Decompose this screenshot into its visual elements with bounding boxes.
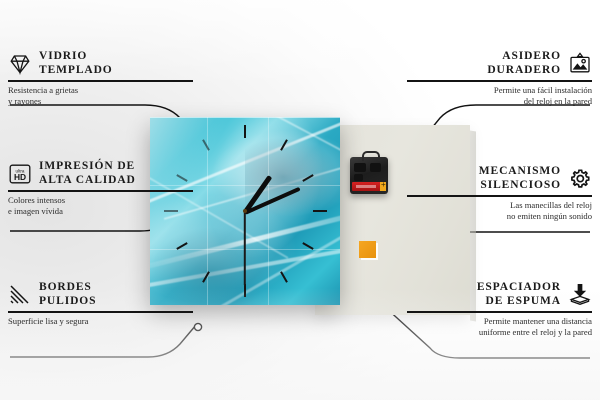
- hotspot-bordes: [194, 323, 201, 330]
- callout-subtitle-line2: del reloj en la pared: [524, 96, 592, 106]
- callout-title-line1: ASIDERO: [502, 50, 561, 62]
- clock-tick: [244, 125, 246, 138]
- svg-text:HD: HD: [14, 172, 26, 182]
- callout-title-line1: MECANISMO: [479, 165, 561, 177]
- arrow-down-layers-icon: [568, 283, 592, 307]
- callout-rule: [8, 190, 193, 192]
- callout-subtitle-line1: Superficie lisa y segura: [8, 316, 88, 326]
- callout-subtitle-line1: Resistencia a grietas: [8, 85, 78, 95]
- callout-title-line2: PULIDOS: [39, 295, 96, 307]
- clock-mechanism: [350, 157, 388, 194]
- battery: [352, 182, 386, 191]
- callout-subtitle-line2: no emiten ningún sonido: [507, 211, 592, 221]
- callout-subtitle-line2: uniforme entre el reloj y la pared: [479, 327, 592, 337]
- mechanism-hanger-loop: [362, 151, 380, 161]
- callout-rule: [407, 311, 592, 313]
- foam-spacer: [359, 241, 376, 258]
- callout-title-line1: VIDRIO: [39, 50, 87, 62]
- callout-title-line2: TEMPLADO: [39, 64, 113, 76]
- callout-subtitle-line1: Las manecillas del reloj: [510, 200, 592, 210]
- callout-asidero-duradero[interactable]: ASIDERO DURADERO Permite una fácil insta…: [407, 50, 592, 107]
- infographic-canvas: VIDRIO TEMPLADO Resistencia a grietas y …: [0, 0, 600, 400]
- callout-impresion-alta-calidad[interactable]: ultra HD IMPRESIÓN DE ALTA CALIDAD Color…: [8, 160, 193, 217]
- callout-subtitle-line1: Colores intensos: [8, 195, 65, 205]
- callout-vidrio-templado[interactable]: VIDRIO TEMPLADO Resistencia a grietas y …: [8, 50, 193, 107]
- callout-rule: [8, 311, 193, 313]
- callout-bordes-pulidos[interactable]: BORDES PULIDOS Superficie lisa y segura: [8, 281, 193, 327]
- callout-title-line2: DURADERO: [487, 64, 561, 76]
- callout-mecanismo-silencioso[interactable]: MECANISMO SILENCIOSO Las manecillas del …: [407, 165, 592, 222]
- callout-subtitle-line1: Permite una fácil instalación: [494, 85, 592, 95]
- diamond-icon: [8, 52, 32, 76]
- callout-title-line2: DE ESPUMA: [485, 295, 561, 307]
- callout-title-line1: BORDES: [39, 281, 92, 293]
- clock-second-hand: [244, 212, 246, 286]
- framed-picture-hanger-icon: [568, 52, 592, 76]
- clock-center-hub: [243, 209, 247, 213]
- callout-title-line2: SILENCIOSO: [480, 179, 561, 191]
- callout-subtitle-line2: e imagen vívida: [8, 206, 63, 216]
- clock-tick: [244, 284, 246, 297]
- ultra-hd-icon: ultra HD: [8, 162, 32, 186]
- callout-title-line1: IMPRESIÓN DE: [39, 160, 135, 172]
- callout-subtitle-line1: Permite mantener una distancia: [484, 316, 592, 326]
- beveled-edge-icon: [8, 283, 32, 307]
- callout-espaciador-de-espuma[interactable]: ESPACIADOR DE ESPUMA Permite mantener un…: [407, 281, 592, 338]
- callout-rule: [8, 80, 193, 82]
- callout-subtitle-line2: y rayones: [8, 96, 41, 106]
- callout-rule: [407, 80, 592, 82]
- callout-title-line2: ALTA CALIDAD: [39, 174, 136, 186]
- clock-tick: [313, 210, 327, 212]
- clock-tick: [202, 139, 210, 150]
- callout-title-line1: ESPACIADOR: [477, 281, 561, 293]
- callout-rule: [407, 195, 592, 197]
- gear-icon: [568, 167, 592, 191]
